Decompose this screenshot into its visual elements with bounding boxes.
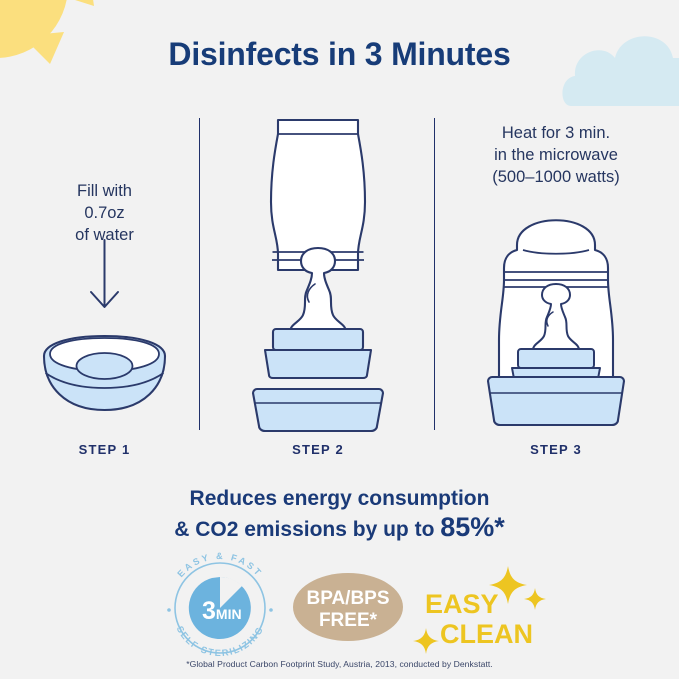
step-3-caption: Heat for 3 min. in the microwave (500–10…: [440, 122, 672, 188]
step-3-caption-line-3: (500–1000 watts): [440, 166, 672, 188]
step-3: Heat for 3 min. in the microwave (500–10…: [440, 110, 672, 460]
claim-line-2: & CO2 emissions by up to 85%*: [0, 513, 679, 544]
claim-line-2-prefix: & CO2 emissions by up to: [174, 518, 440, 541]
step-1: Fill with 0.7oz of water: [12, 110, 197, 460]
footnote: *Global Product Carbon Footprint Study, …: [0, 659, 679, 669]
badge-clean-line-1: EASY: [425, 589, 499, 619]
step-1-caption: Fill with 0.7oz of water: [12, 180, 197, 246]
badge-bpa-line-2: FREE*: [319, 610, 378, 631]
infographic-root: Disinfects in 3 Minutes Fill with 0.7oz …: [0, 0, 679, 679]
step-3-label: STEP 3: [440, 442, 672, 457]
step-3-caption-line-1: Heat for 3 min.: [440, 122, 672, 144]
step-1-label: STEP 1: [12, 442, 197, 457]
step-1-caption-line-2: 0.7oz: [12, 202, 197, 224]
step-2-label: STEP 2: [205, 442, 431, 457]
bowl-with-water-icon: [12, 240, 197, 435]
step-3-caption-line-2: in the microwave: [440, 144, 672, 166]
badge-3min-self-sterilizing: 3MIN EASY & FAST SELF STERILIZING: [152, 558, 288, 654]
claim-asterisk: *: [494, 512, 505, 542]
badge-easy-clean: EASY CLEAN: [412, 558, 552, 654]
assembled-bottle-microwave-icon: [440, 188, 672, 438]
badge-3min-unit: MIN: [216, 606, 242, 622]
step-1-caption-line-1: Fill with: [12, 180, 197, 202]
energy-claim: Reduces energy consumption & CO2 emissio…: [0, 484, 679, 544]
badge-clean-line-2: CLEAN: [440, 619, 533, 649]
bottle-teat-ring-exploded-icon: [205, 110, 431, 435]
steps-section: Fill with 0.7oz of water: [0, 110, 679, 460]
badges-row: 3MIN EASY & FAST SELF STERILIZING BPA/BP…: [0, 558, 679, 654]
page-title: Disinfects in 3 Minutes: [0, 36, 679, 73]
claim-percentage: 85%: [440, 512, 494, 542]
badge-bpa-line-1: BPA/BPS: [306, 588, 389, 609]
badge-3min-number: 3: [202, 597, 216, 625]
step-divider-1: [199, 118, 200, 430]
step-2: STEP 2: [205, 110, 431, 460]
badge-bpa-bps-free: BPA/BPS FREE*: [288, 558, 408, 654]
step-divider-2: [434, 118, 435, 430]
claim-line-1: Reduces energy consumption: [0, 484, 679, 513]
